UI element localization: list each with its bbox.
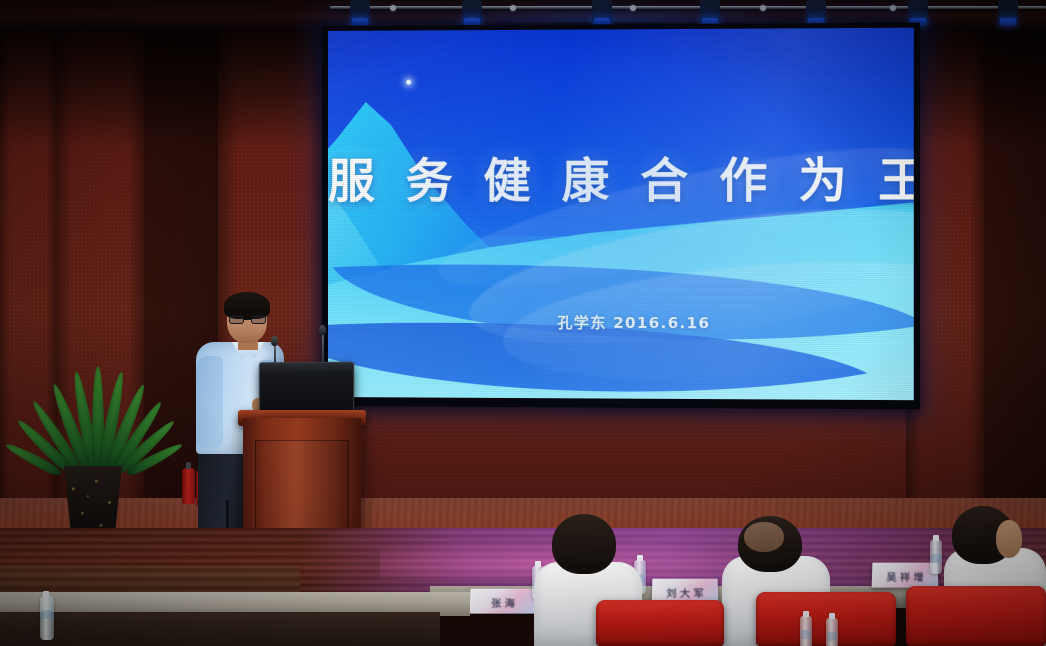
slide-title: 服 务 健 康 合 作 为 王: [328, 142, 914, 212]
water-bottle: [826, 618, 838, 646]
presenter-arm-left: [196, 356, 223, 448]
glasses-lens: [229, 315, 244, 324]
presentation-photo-scene: 服 务 健 康 合 作 为 王 孔学东 2016.6.16: [0, 0, 1046, 646]
truss-node: [890, 5, 896, 11]
name-placard-text: 吴 祥 增: [872, 569, 939, 583]
truss-node: [630, 5, 636, 11]
foreground-shadow: [0, 612, 440, 646]
water-bottle: [40, 596, 54, 640]
stage-light: [350, 0, 370, 26]
stage-light: [462, 0, 482, 26]
fire-extinguisher: [182, 468, 195, 504]
water-bottle: [800, 616, 812, 646]
stage-light: [700, 0, 720, 26]
stage-light: [806, 0, 826, 26]
laptop: [259, 362, 354, 415]
truss-node: [760, 5, 766, 11]
glasses-bridge: [244, 319, 251, 321]
microphone-head: [319, 325, 326, 335]
glasses-lens: [251, 315, 266, 324]
slide-byline: 孔学东 2016.6.16: [328, 311, 914, 334]
microphone-head: [271, 336, 278, 346]
name-placard: 吴 祥 增: [872, 563, 939, 588]
audience-chair: [596, 600, 724, 646]
audience-chair: [906, 586, 1046, 646]
attendee-head: [552, 514, 616, 574]
truss-node: [390, 5, 396, 11]
name-placard: 张 海: [470, 589, 537, 614]
name-placard-text: 张 海: [470, 595, 537, 609]
truss-node: [510, 5, 516, 11]
glasses-icon: [229, 315, 266, 324]
water-bottle: [930, 540, 942, 574]
lighting-truss: [330, 6, 1046, 9]
stage-light: [592, 0, 612, 26]
attendee-face: [996, 520, 1022, 558]
attendee-scalp: [744, 522, 784, 552]
name-placard-text: 刘 大 军: [652, 585, 719, 599]
screen-surface: 服 务 健 康 合 作 为 王 孔学东 2016.6.16: [328, 28, 914, 400]
led-screen: 服 务 健 康 合 作 为 王 孔学东 2016.6.16: [322, 23, 920, 410]
stage-light: [998, 0, 1018, 26]
